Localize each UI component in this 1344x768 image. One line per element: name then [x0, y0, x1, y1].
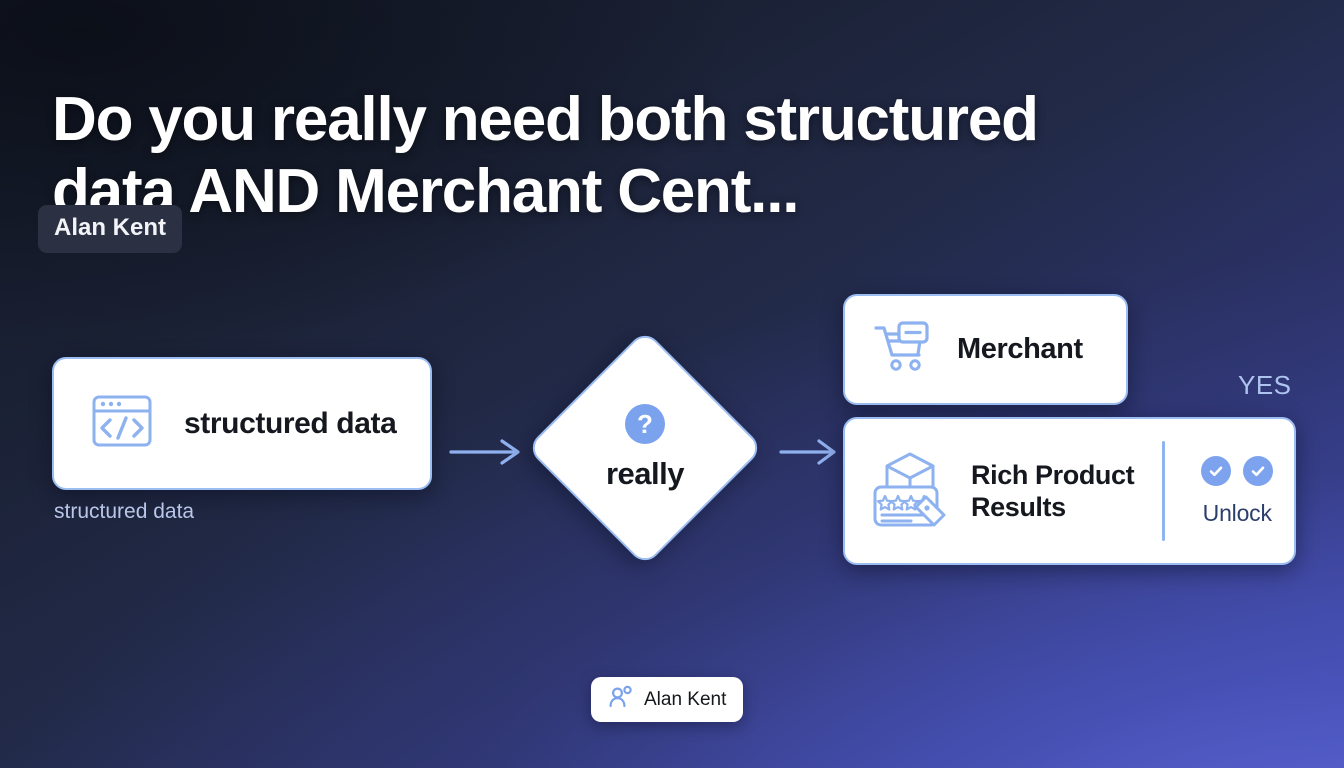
card-divider: [1162, 441, 1165, 541]
rich-product-title: Rich Product Results: [971, 459, 1134, 523]
users-icon: [608, 685, 634, 714]
structured-data-sublabel: structured data: [54, 500, 194, 524]
decision-label: really: [606, 456, 684, 492]
footer-author-pill[interactable]: Alan Kent: [591, 677, 743, 722]
question-mark-icon: ?: [625, 404, 665, 444]
unlock-group: Unlock: [1187, 456, 1273, 527]
arrow-decision-to-results: [778, 432, 848, 472]
merchant-label: Merchant: [957, 333, 1083, 366]
structured-data-label: structured data: [184, 407, 396, 441]
merchant-card[interactable]: Merchant: [843, 294, 1128, 405]
structured-data-card[interactable]: structured data: [52, 357, 432, 490]
arrow-structured-to-decision: [448, 432, 528, 472]
page-title: Do you really need both structured data …: [52, 84, 1082, 228]
footer-author-label: Alan Kent: [644, 689, 726, 711]
diamond-content: ? really: [527, 330, 763, 566]
check-icon: [1243, 456, 1273, 486]
code-window-icon: [90, 389, 154, 458]
unlock-label: Unlock: [1203, 500, 1272, 527]
rich-product-results-card[interactable]: Rich Product Results Unlock: [843, 417, 1296, 565]
check-badges: [1201, 456, 1273, 486]
shopping-cart-icon: [873, 321, 931, 378]
check-icon: [1201, 456, 1231, 486]
product-rating-tag-icon: [871, 449, 949, 534]
branch-label-yes: YES: [1238, 370, 1292, 401]
author-byline-badge: Alan Kent: [38, 205, 182, 253]
slide-canvas: Do you really need both structured data …: [0, 0, 1344, 768]
decision-diamond[interactable]: ? really: [527, 330, 763, 566]
